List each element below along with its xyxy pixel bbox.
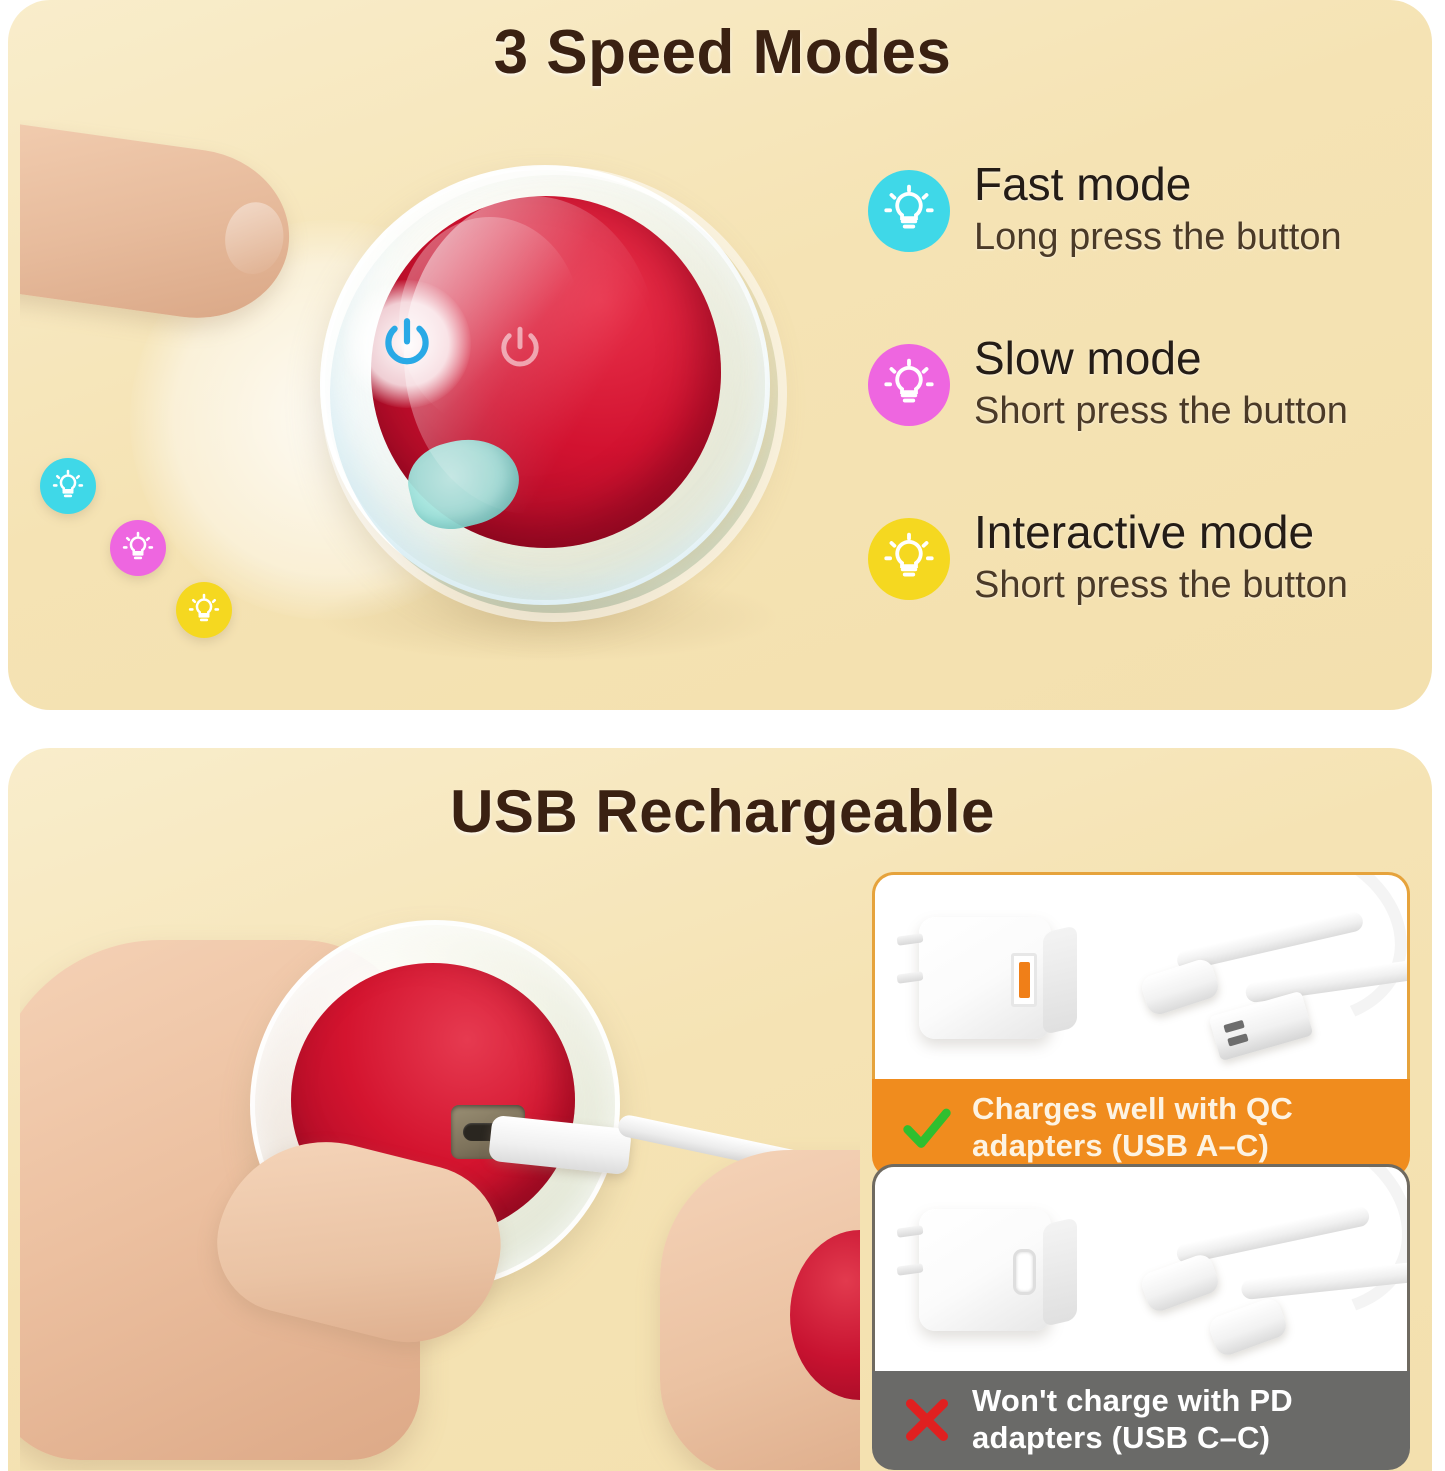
usb-c-connector xyxy=(1206,1296,1289,1359)
mini-lightbulb-icon-slow xyxy=(110,520,166,576)
usb-a-port xyxy=(1011,953,1037,1007)
charger-card-pd: Won't charge with PD adapters (USB C–C) xyxy=(872,1164,1410,1470)
product-photo-charging xyxy=(20,900,860,1470)
usb-c-pd-charger xyxy=(919,1209,1051,1331)
list-item: Fast mode Long press the button xyxy=(868,160,1408,334)
product-photo-power-button xyxy=(20,120,850,700)
power-button-icon-lit xyxy=(343,280,471,408)
caption-line-1: Charges well with QC xyxy=(972,1091,1293,1128)
usb-a-qc-charger xyxy=(919,917,1051,1039)
lightbulb-icon-slow xyxy=(868,344,950,426)
caption-line-2: adapters (USB A–C) xyxy=(972,1128,1293,1165)
pd-caption-bar: Won't charge with PD adapters (USB C–C) xyxy=(872,1371,1410,1470)
charger-card-qc: Charges well with QC adapters (USB A–C) xyxy=(872,872,1410,1178)
plug-prong xyxy=(897,1225,924,1238)
page-title-usb-rechargeable: USB Rechargeable xyxy=(0,782,1445,842)
charger-side-face xyxy=(1043,1217,1077,1327)
plug-prong xyxy=(897,971,924,984)
usb-c-connector xyxy=(1138,1252,1221,1315)
usb-c-port xyxy=(1013,1249,1036,1295)
lightbulb-icon-interactive xyxy=(868,518,950,600)
usb-c-connector xyxy=(1139,957,1222,1018)
lightbulb-icon-fast xyxy=(868,170,950,252)
page-title-speed-modes: 3 Speed Modes xyxy=(0,22,1445,84)
usb-a-connector xyxy=(1209,991,1314,1062)
transparent-ball-shell xyxy=(320,165,770,605)
mode-title: Slow mode xyxy=(974,334,1404,384)
speed-mode-list: Fast mode Long press the button Slow mod… xyxy=(868,160,1408,682)
mode-title: Fast mode xyxy=(974,160,1404,210)
mode-subtitle: Long press the button xyxy=(974,216,1404,260)
pd-charger-photo xyxy=(872,1164,1410,1371)
caption-line-2: adapters (USB C–C) xyxy=(972,1420,1293,1457)
list-item: Slow mode Short press the button xyxy=(868,334,1408,508)
caption-line-1: Won't charge with PD xyxy=(972,1383,1293,1420)
mini-lightbulb-icon-fast xyxy=(40,458,96,514)
pd-caption-text: Won't charge with PD adapters (USB C–C) xyxy=(972,1383,1293,1456)
mode-subtitle: Short press the button xyxy=(974,390,1404,434)
mode-title: Interactive mode xyxy=(974,508,1404,558)
list-item: Interactive mode Short press the button xyxy=(868,508,1408,682)
red-cross-icon xyxy=(898,1391,956,1449)
charger-side-face xyxy=(1043,925,1077,1035)
mode-subtitle: Short press the button xyxy=(974,564,1404,608)
green-check-icon xyxy=(898,1099,956,1157)
mini-lightbulb-icon-interactive xyxy=(176,582,232,638)
power-button-icon-dim xyxy=(493,322,547,376)
plug-prong xyxy=(897,933,924,946)
qc-caption-text: Charges well with QC adapters (USB A–C) xyxy=(972,1091,1293,1164)
qc-charger-photo xyxy=(872,872,1410,1079)
plug-prong xyxy=(897,1263,924,1276)
